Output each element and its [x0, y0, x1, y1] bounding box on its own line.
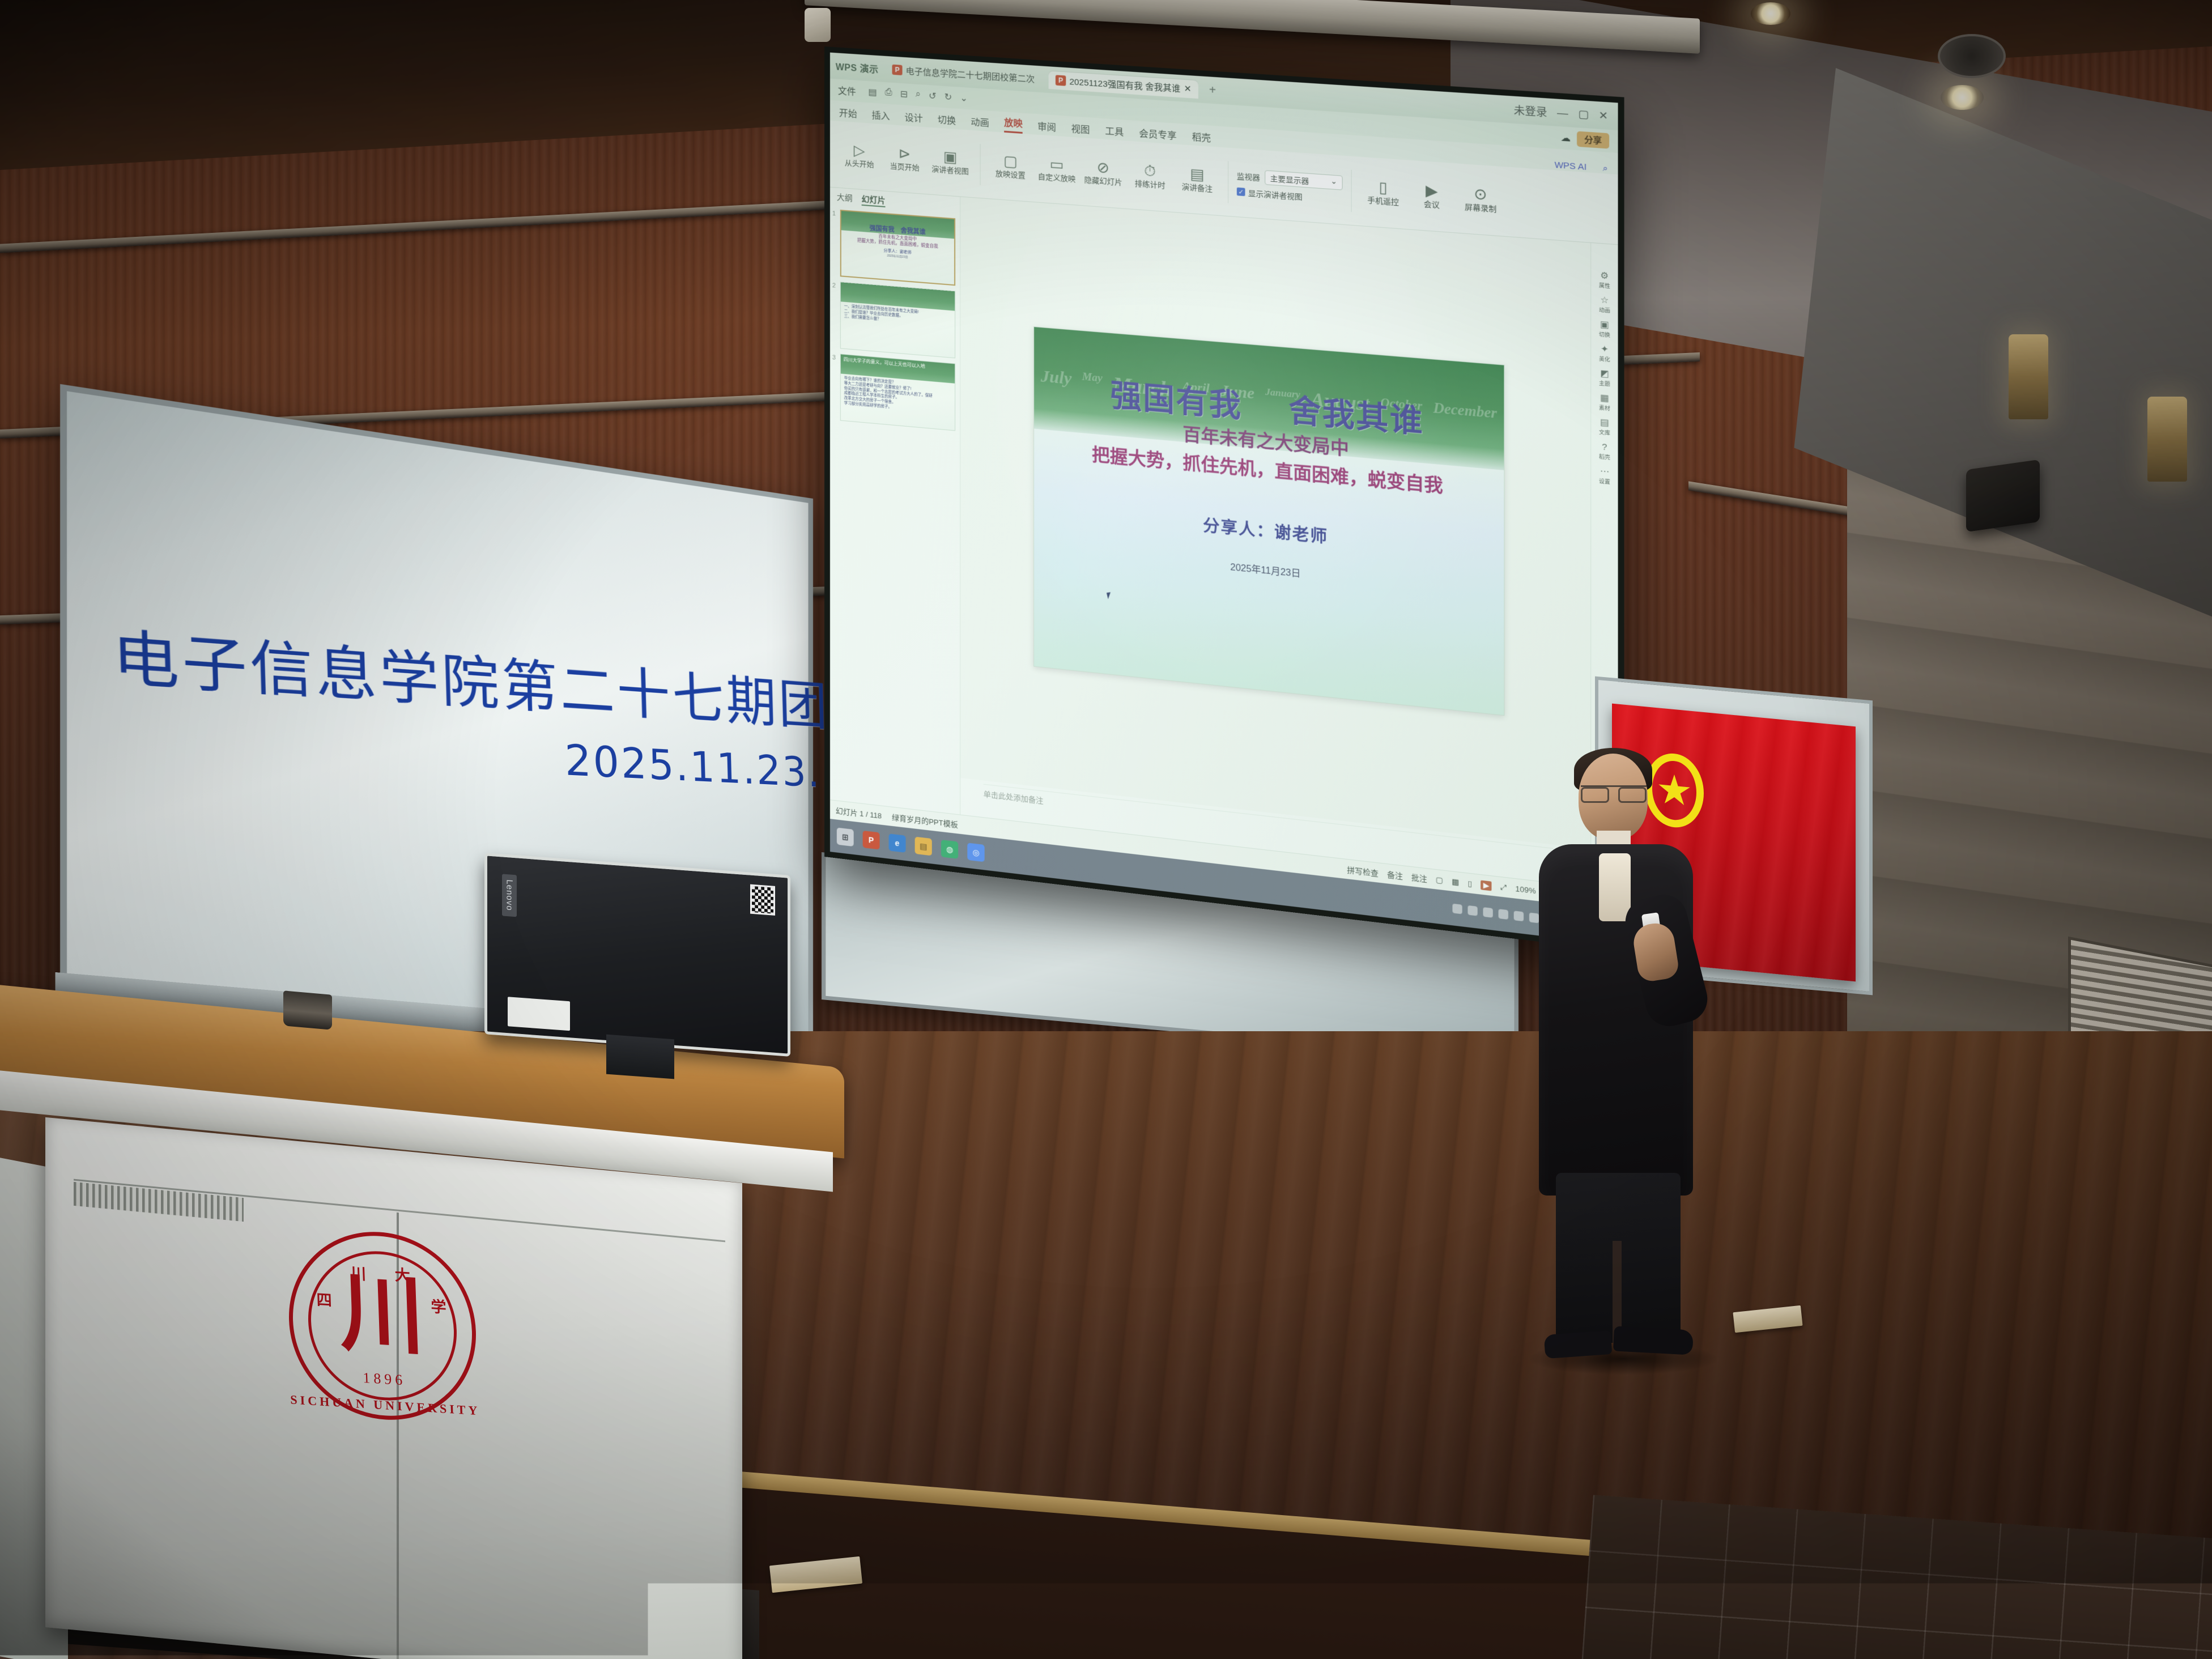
presenter-shoe-right	[1613, 1326, 1694, 1355]
wps-workspace: 大纲 幻灯片 1 强国有我 舍我其谁 百年未有之大变局中 把握大势，抓	[830, 188, 1618, 890]
rail-item-beautify[interactable]: ✦ 美化	[1599, 344, 1610, 363]
slide-navigator-panel: 大纲 幻灯片 1 强国有我 舍我其谁 百年未有之大变局中 把握大势，抓	[830, 188, 960, 815]
beautify-icon: ✦	[1601, 344, 1609, 354]
rail-item-settings[interactable]: ⋯ 设置	[1599, 467, 1610, 486]
desk-cup	[283, 990, 332, 1030]
file-menu-button[interactable]: 文件	[838, 83, 856, 98]
undo-icon[interactable]: ↺	[929, 90, 936, 102]
custom-show-icon: ▭	[1049, 156, 1064, 172]
presenter-view-checkbox-label: 显示演讲者视图	[1248, 187, 1303, 202]
play-current-icon: ⊳	[899, 146, 911, 161]
slideshow-icon[interactable]: ▶	[1481, 880, 1491, 891]
ppt-file-icon-2: P	[1056, 75, 1066, 86]
wall-speaker	[1966, 460, 2040, 532]
properties-icon: ⚙	[1601, 271, 1609, 280]
sorter-view-icon[interactable]: ▩	[1452, 877, 1459, 887]
logo-char-4: 学	[431, 1294, 446, 1317]
panel-tab-slides[interactable]: 幻灯片	[862, 193, 886, 207]
network-icon[interactable]	[1483, 907, 1492, 918]
account-label[interactable]: 未登录	[1514, 102, 1547, 120]
share-button[interactable]: 分享	[1577, 131, 1609, 148]
new-tab-button[interactable]: +	[1206, 83, 1220, 97]
volume-icon[interactable]	[1467, 905, 1477, 916]
reading-view-icon[interactable]: ▯	[1467, 878, 1472, 888]
ribbon-separator-2	[1228, 161, 1228, 203]
rail-label-properties: 属性	[1599, 281, 1610, 290]
search-doc-icon[interactable]: ⌕	[916, 90, 921, 101]
spellcheck-button[interactable]: 拼写检查	[1347, 863, 1378, 878]
slide-thumbnail-1[interactable]: 强国有我 舍我其谁 百年未有之大变局中 把握大势，抓住先机，直面困难，蜕变自我 …	[840, 210, 955, 286]
monitor-group-label: 监视器	[1237, 169, 1260, 182]
tab-start[interactable]: 开始	[839, 105, 857, 122]
ribbon-button-speaker-notes[interactable]: ▤ 演讲备注	[1175, 165, 1219, 194]
whiteboard-date-text: 2025.11.23.	[564, 735, 822, 797]
tab-review[interactable]: 审阅	[1037, 118, 1056, 136]
wall-sconce-2	[2147, 397, 2187, 482]
tab-view[interactable]: 视图	[1071, 121, 1090, 138]
glasses-icon	[1581, 785, 1647, 800]
battery-icon[interactable]	[1498, 909, 1508, 920]
monitor-qr-code	[750, 884, 775, 916]
sichuan-university-logo: 四 川 大 学 川 1896 SICHUAN UNIVERSITY	[286, 1227, 479, 1426]
tab-tools[interactable]: 工具	[1105, 123, 1124, 141]
ribbon-button-speaker-notes-label: 演讲备注	[1182, 183, 1213, 194]
tab-transition[interactable]: 切换	[938, 112, 956, 129]
monitor-group: 监视器 主要显示器 ⌄ ✓ 显示演讲者视图	[1237, 168, 1343, 205]
projector-screen-roller-cap	[805, 8, 831, 42]
phone-remote-icon: ▯	[1379, 180, 1387, 195]
panel-tab-outline[interactable]: 大纲	[837, 192, 853, 205]
settings-icon: ⋯	[1600, 467, 1609, 477]
ribbon-button-presenter-view-label: 演讲者视图	[931, 165, 969, 176]
ceiling-vent	[1938, 34, 2006, 78]
transition-icon: ▣	[1600, 320, 1609, 330]
tab-design[interactable]: 设计	[905, 110, 923, 127]
rail-label-transition: 切换	[1599, 330, 1610, 339]
taskbar-browser-icon[interactable]: ◎	[967, 843, 984, 862]
ribbon-button-rehearse-timing-label: 排练计时	[1135, 180, 1165, 190]
lecture-hall-scene: 电子信息学院第二十七期团校第三次行课 2025.11.23. WPS 演示 P …	[0, 0, 2212, 1659]
tab-docer[interactable]: 稻壳	[1192, 129, 1211, 147]
ribbon-button-meeting-label: 会议	[1424, 201, 1440, 210]
ribbon-button-play-current[interactable]: ⊳ 当页开始	[883, 145, 926, 173]
ribbon-button-custom-show[interactable]: ▭ 自定义放映	[1035, 155, 1079, 184]
speaker-notes-icon: ▤	[1190, 166, 1205, 182]
maximize-button[interactable]: ▢	[1578, 108, 1589, 121]
material-icon: ▦	[1600, 393, 1609, 403]
thumbnail-row-1[interactable]: 1 强国有我 舍我其谁 百年未有之大变局中 把握大势，抓住先机，直面困难，蜕变自…	[840, 210, 955, 286]
ribbon-separator-3	[1351, 169, 1352, 212]
screen-record-icon: ⊙	[1474, 186, 1487, 202]
comment-button[interactable]: 批注	[1411, 871, 1427, 884]
notes-toggle-button[interactable]: 备注	[1387, 868, 1403, 881]
rail-item-theme[interactable]: ◩ 主题	[1599, 369, 1610, 388]
checkbox-checked-icon: ✓	[1237, 188, 1245, 196]
document-tab-2-label: 20251123强国有我 舍我其谁	[1069, 75, 1180, 94]
ribbon-button-play-from-start[interactable]: ▷ 从头开始	[838, 142, 881, 170]
ribbon-button-play-current-label: 当页开始	[890, 163, 920, 173]
rail-item-library[interactable]: ▤ 文库	[1599, 418, 1610, 436]
presenter-shoe-left	[1544, 1330, 1613, 1359]
presenter-view-icon: ▣	[943, 149, 958, 165]
slide-count-label: 幻灯片 1 / 118	[836, 805, 882, 820]
monitor-asset-label	[508, 997, 570, 1031]
document-tab-1-label: 电子信息学院二十七期团校第二次	[905, 65, 1035, 85]
help-icon: ?	[1602, 443, 1607, 452]
slide-thumbnail-2[interactable]: 一、深刻认清楚我们所处在百年未有之大变局! 二、我们是谁？毕业去向历史数据。 三…	[840, 282, 955, 358]
library-icon: ▤	[1600, 418, 1609, 428]
thumbnail-number-3: 3	[832, 354, 836, 361]
search-icon[interactable]: ⌕	[1603, 163, 1608, 174]
ribbon-button-show-settings-label: 放映设置	[996, 170, 1026, 180]
ribbon-button-screen-record[interactable]: ⊙ 屏幕录制	[1457, 185, 1504, 214]
taskbar-explorer-icon[interactable]: ▤	[915, 837, 932, 856]
animation-icon: ☆	[1601, 296, 1609, 305]
ribbon-button-play-from-start-label: 从头开始	[845, 159, 874, 169]
save-icon[interactable]: ▤	[869, 86, 877, 98]
thumbnail-row-2[interactable]: 2 一、深刻认清楚我们所处在百年未有之大变局! 二、我们是谁？毕业去向历史数据。…	[840, 282, 955, 358]
hide-slide-icon: ⊘	[1097, 160, 1109, 176]
rail-label-animation: 动画	[1599, 305, 1610, 314]
current-slide[interactable]: July May March April June January August…	[1033, 326, 1504, 716]
slide-thumbnail-3[interactable]: 四川大学子的意义，可以上天也可以入地 毕业去向有哪下？谁的决定是？ 等大二力还是…	[840, 354, 955, 431]
wps-presentation-window: WPS 演示 P 电子信息学院二十七期团校第二次 P 20251123强国有我 …	[830, 53, 1618, 945]
ribbon-button-show-settings[interactable]: ▢ 放映设置	[989, 152, 1032, 181]
projection-screen: WPS 演示 P 电子信息学院二十七期团校第二次 P 20251123强国有我 …	[824, 46, 1624, 952]
ribbon-button-phone-remote[interactable]: ▯ 手机遥控	[1360, 178, 1406, 207]
rail-item-docer[interactable]: ? 稻壳	[1599, 443, 1610, 461]
start-button[interactable]: ⊞	[837, 828, 854, 847]
quick-access-toolbar: ▤ ⎙ ⊟ ⌕ ↺ ↻ ⌄	[869, 86, 968, 104]
rail-label-library: 文库	[1599, 428, 1610, 436]
ribbon-button-screen-record-label: 屏幕录制	[1465, 203, 1496, 214]
rail-label-theme: 主题	[1599, 379, 1610, 388]
logo-center-glyph: 川	[338, 1269, 426, 1359]
rail-label-docer: 稻壳	[1599, 452, 1610, 461]
fit-to-window-icon[interactable]: ⤢	[1500, 882, 1507, 892]
print-icon[interactable]: ⎙	[885, 87, 892, 99]
rail-item-properties[interactable]: ⚙ 属性	[1599, 271, 1610, 290]
rail-item-material[interactable]: ▦ 素材	[1599, 393, 1610, 412]
normal-view-icon[interactable]: ▢	[1436, 875, 1443, 885]
ribbon-button-custom-show-label: 自定义放映	[1038, 173, 1076, 184]
rail-label-settings: 设置	[1599, 477, 1610, 486]
ribbon-button-presenter-view[interactable]: ▣ 演讲者视图	[929, 148, 972, 176]
taskbar-wps-icon[interactable]: P	[863, 831, 880, 850]
wps-app-name: WPS 演示	[836, 59, 879, 75]
taskbar-wechat-icon[interactable]: ◍	[941, 840, 958, 859]
presenter-shirt	[1599, 853, 1631, 921]
window-controls: 未登录 — ▢ ✕	[1514, 102, 1612, 124]
close-button[interactable]: ✕	[1598, 109, 1608, 122]
ribbon-button-rehearse-timing[interactable]: ⏱ 排练计时	[1128, 162, 1172, 191]
chevron-down-icon[interactable]: ⌄	[960, 92, 968, 104]
slide-editor-column: July May March April June January August…	[960, 197, 1590, 887]
slide-thumbnail-list[interactable]: 1 强国有我 舍我其谁 百年未有之大变局中 把握大势，抓住先机，直面困难，蜕变自…	[830, 206, 960, 815]
thumbnail-number-2: 2	[832, 282, 836, 289]
chevron-down-icon: ⌄	[1331, 176, 1338, 188]
monitor-brand-label: Lenovo	[502, 874, 517, 917]
ribbon-separator-1	[980, 144, 981, 185]
taskbar-edge-icon[interactable]: e	[889, 833, 906, 853]
rail-label-beautify: 美化	[1599, 355, 1610, 363]
logo-char-1: 四	[316, 1287, 332, 1311]
wall-sconce-1	[2009, 334, 2048, 419]
thumbnail-number-1: 1	[832, 210, 836, 217]
theme-icon: ◩	[1600, 369, 1609, 378]
presenter	[1524, 754, 1711, 1371]
rail-item-animation[interactable]: ☆ 动画	[1599, 295, 1610, 314]
tab-animation[interactable]: 动画	[971, 114, 989, 131]
slide-editing-stage[interactable]: July May March April June January August…	[960, 197, 1590, 849]
ppt-file-icon: P	[892, 65, 902, 75]
rail-item-transition[interactable]: ▣ 切换	[1599, 320, 1610, 339]
thumbnail-3-title: 四川大学子的意义，可以上天也可以入地	[841, 354, 955, 373]
cloud-sync-icon[interactable]: ☁	[1561, 132, 1571, 144]
tab-insert[interactable]: 插入	[872, 108, 890, 125]
monitor-select[interactable]: 主要显示器 ⌄	[1265, 170, 1342, 190]
slide-content: 强国有我 舍我其谁 百年未有之大变局中 把握大势，抓住先机，直面困难，蜕变自我 …	[1034, 327, 1504, 715]
redo-icon[interactable]: ↻	[945, 91, 952, 103]
minimize-button[interactable]: —	[1557, 107, 1568, 120]
close-tab-icon[interactable]: ✕	[1184, 83, 1192, 94]
play-from-start-icon: ▷	[854, 143, 865, 158]
tab-member[interactable]: 会员专享	[1139, 125, 1176, 144]
monitor-stand	[606, 1035, 674, 1079]
meeting-icon: ▶	[1426, 183, 1438, 199]
ribbon-button-meeting[interactable]: ▶ 会议	[1409, 181, 1455, 211]
up-arrow-icon[interactable]	[1452, 904, 1462, 914]
logo-founding-year: 1896	[363, 1369, 406, 1389]
tab-slideshow[interactable]: 放映	[1004, 114, 1023, 134]
export-pdf-icon[interactable]: ⊟	[900, 88, 907, 100]
ribbon-button-hide-slide-label: 隐藏幻灯片	[1084, 176, 1122, 187]
rehearse-timing-icon: ⏱	[1144, 163, 1156, 179]
ribbon-button-hide-slide[interactable]: ⊘ 隐藏幻灯片	[1081, 159, 1125, 188]
cloud-icon[interactable]	[1514, 911, 1524, 921]
ribbon-button-phone-remote-label: 手机遥控	[1367, 196, 1399, 207]
thumbnail-row-3[interactable]: 3 四川大学子的意义，可以上天也可以入地 毕业去向有哪下？谁的决定是？ 等大二力…	[840, 354, 955, 431]
show-settings-icon: ▢	[1003, 153, 1018, 169]
ceiling-downlight-2	[1941, 85, 1984, 110]
podium-monitor: Lenovo	[484, 853, 790, 1057]
rail-label-material: 素材	[1599, 403, 1610, 412]
ceiling-downlight-1	[1751, 2, 1790, 25]
monitor-select-value: 主要显示器	[1270, 172, 1309, 185]
